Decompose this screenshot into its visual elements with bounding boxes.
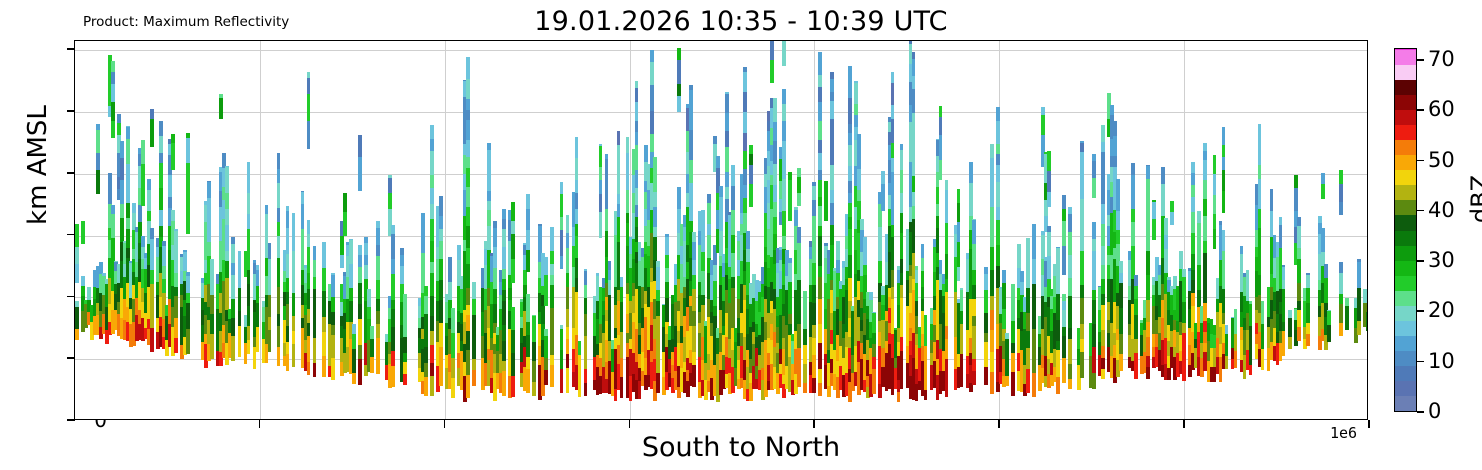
reflectivity-cell <box>1161 194 1165 206</box>
reflectivity-cell <box>349 239 353 264</box>
reflectivity-cell <box>238 326 242 348</box>
reflectivity-cell <box>617 241 621 268</box>
reflectivity-cell <box>439 241 443 259</box>
reflectivity-cell <box>1092 324 1096 347</box>
reflectivity-cell <box>584 270 588 285</box>
reflectivity-cell <box>653 192 657 207</box>
x-tick-mark <box>444 420 446 428</box>
reflectivity-cell <box>1119 354 1123 371</box>
reflectivity-cell <box>1222 288 1226 313</box>
reflectivity-cell <box>1131 209 1135 222</box>
reflectivity-cell <box>620 314 624 332</box>
reflectivity-cell <box>421 264 425 279</box>
reflectivity-cell <box>400 248 404 255</box>
reflectivity-cell <box>1131 175 1135 195</box>
reflectivity-cell <box>391 234 395 259</box>
reflectivity-cell <box>635 204 639 217</box>
reflectivity-cell <box>532 381 536 396</box>
reflectivity-cell <box>1261 349 1265 370</box>
reflectivity-cell <box>818 299 822 324</box>
reflectivity-cell <box>957 242 961 267</box>
reflectivity-cell <box>812 216 816 241</box>
reflectivity-cell <box>159 225 163 237</box>
reflectivity-cell <box>370 338 374 357</box>
reflectivity-cell <box>1197 222 1201 240</box>
reflectivity-cell <box>725 112 729 131</box>
reflectivity-cell <box>743 198 747 214</box>
reflectivity-cell <box>939 160 943 181</box>
reflectivity-cell <box>1119 308 1123 334</box>
reflectivity-cell <box>812 325 816 338</box>
reflectivity-cell <box>120 141 124 158</box>
reflectivity-cell <box>472 369 476 385</box>
reflectivity-cell <box>502 340 506 361</box>
reflectivity-cell <box>439 259 443 281</box>
colorbar-band <box>1395 140 1416 156</box>
reflectivity-cell <box>1240 246 1244 254</box>
reflectivity-cell <box>1222 276 1226 289</box>
reflectivity-cell <box>936 204 940 216</box>
reflectivity-cell <box>1258 228 1262 249</box>
reflectivity-cell <box>120 158 124 180</box>
reflectivity-cell <box>797 280 801 302</box>
reflectivity-cell <box>75 306 79 329</box>
reflectivity-cell <box>912 175 916 192</box>
reflectivity-cell <box>1080 198 1084 214</box>
reflectivity-cell <box>1113 156 1117 167</box>
reflectivity-cell <box>945 373 949 397</box>
reflectivity-cell <box>1222 251 1226 277</box>
reflectivity-cell <box>818 343 822 369</box>
reflectivity-cell <box>210 314 214 335</box>
reflectivity-cell <box>863 237 867 246</box>
reflectivity-cell <box>584 298 588 314</box>
reflectivity-cell <box>650 97 654 111</box>
reflectivity-cell <box>900 192 904 212</box>
reflectivity-cell <box>957 221 961 242</box>
reflectivity-cell <box>292 343 296 367</box>
reflectivity-cell <box>749 145 753 153</box>
reflectivity-cell <box>560 256 564 269</box>
reflectivity-cell <box>1026 268 1030 288</box>
reflectivity-cell <box>891 72 895 83</box>
reflectivity-cell <box>111 61 115 72</box>
reflectivity-cell <box>493 268 497 289</box>
x-axis-label: South to North <box>0 432 1482 463</box>
reflectivity-cell <box>430 125 434 140</box>
reflectivity-cell <box>186 163 190 187</box>
reflectivity-cell <box>1197 211 1201 223</box>
reflectivity-cell <box>1306 288 1310 303</box>
reflectivity-cell <box>812 262 816 285</box>
reflectivity-cell <box>219 94 223 98</box>
reflectivity-cell <box>1026 348 1030 370</box>
reflectivity-cell <box>1222 127 1226 145</box>
reflectivity-cell <box>550 354 554 365</box>
reflectivity-cell <box>277 270 281 288</box>
reflectivity-cell <box>159 188 163 210</box>
reflectivity-cell <box>1026 288 1030 314</box>
reflectivity-cell <box>1092 372 1096 389</box>
reflectivity-cell <box>1080 142 1084 152</box>
reflectivity-cell <box>872 312 876 313</box>
reflectivity-cell <box>1324 264 1328 278</box>
reflectivity-cell <box>174 286 178 296</box>
reflectivity-cell <box>656 301 660 316</box>
reflectivity-cell <box>502 247 506 269</box>
reflectivity-cell <box>701 251 705 271</box>
reflectivity-cell <box>689 160 693 184</box>
reflectivity-cell <box>400 255 404 267</box>
reflectivity-cell <box>1203 143 1207 151</box>
reflectivity-cell <box>1213 214 1217 229</box>
reflectivity-cell <box>1279 247 1283 265</box>
reflectivity-cell <box>617 145 621 170</box>
reflectivity-cell <box>376 360 380 374</box>
colorbar-band <box>1395 200 1416 216</box>
reflectivity-cell <box>487 200 491 210</box>
reflectivity-cell <box>891 237 895 259</box>
reflectivity-cell <box>921 287 925 299</box>
reflectivity-cell <box>1101 329 1105 346</box>
reflectivity-cell <box>247 213 251 228</box>
reflectivity-cell <box>1288 310 1292 318</box>
reflectivity-cell <box>487 149 491 176</box>
reflectivity-cell <box>897 391 901 402</box>
reflectivity-cell <box>340 235 344 254</box>
reflectivity-cell <box>313 289 317 307</box>
reflectivity-cell <box>430 376 434 396</box>
reflectivity-cell <box>830 118 834 141</box>
reflectivity-cell <box>313 259 317 277</box>
reflectivity-cell <box>117 114 121 123</box>
reflectivity-cell <box>1339 183 1343 202</box>
reflectivity-cell <box>1134 275 1138 286</box>
reflectivity-cell <box>126 163 130 188</box>
reflectivity-cell <box>773 121 777 141</box>
reflectivity-cell <box>1047 151 1051 171</box>
reflectivity-cell <box>677 48 681 61</box>
reflectivity-cell <box>689 183 693 194</box>
reflectivity-cell <box>364 264 368 278</box>
reflectivity-cell <box>891 224 895 237</box>
x-tick-mark <box>813 420 815 428</box>
reflectivity-cell <box>773 185 777 203</box>
reflectivity-cell <box>367 289 371 307</box>
reflectivity-cell <box>803 329 807 346</box>
reflectivity-cell <box>1164 218 1168 235</box>
reflectivity-cell <box>891 118 895 143</box>
reflectivity-cell <box>526 209 530 230</box>
reflectivity-cell <box>307 234 311 247</box>
reflectivity-cell <box>430 175 434 188</box>
reflectivity-cell <box>1068 231 1072 255</box>
reflectivity-cell <box>635 88 639 103</box>
reflectivity-cell <box>247 340 251 354</box>
reflectivity-cell <box>1101 305 1105 330</box>
reflectivity-cell <box>358 319 362 346</box>
reflectivity-cell <box>984 289 988 313</box>
reflectivity-cell <box>1324 278 1328 304</box>
reflectivity-cell <box>1146 321 1150 337</box>
reflectivity-cell <box>1327 311 1331 325</box>
reflectivity-cell <box>1258 209 1262 229</box>
reflectivity-cell <box>638 242 642 246</box>
reflectivity-cell <box>352 324 356 334</box>
reflectivity-cell <box>731 185 735 210</box>
colorbar-tick-label: 50 <box>1428 148 1455 172</box>
reflectivity-cell <box>782 140 786 163</box>
reflectivity-cell <box>996 144 1000 155</box>
reflectivity-cell <box>650 62 654 86</box>
reflectivity-cell <box>803 291 807 294</box>
reflectivity-cell <box>1080 284 1084 297</box>
reflectivity-cell <box>560 328 564 350</box>
reflectivity-cell <box>860 219 864 229</box>
reflectivity-cell <box>689 221 693 232</box>
reflectivity-cell <box>945 292 949 306</box>
reflectivity-cell <box>1080 141 1084 142</box>
reflectivity-cell <box>307 94 311 121</box>
reflectivity-cell <box>1080 173 1084 199</box>
reflectivity-cell <box>891 209 895 225</box>
reflectivity-cell <box>81 276 85 286</box>
reflectivity-cell <box>162 266 166 280</box>
reflectivity-cell <box>277 325 281 346</box>
reflectivity-cell <box>502 301 506 325</box>
reflectivity-cell <box>891 269 895 287</box>
reflectivity-cell <box>225 166 229 192</box>
reflectivity-cell <box>1203 253 1207 278</box>
reflectivity-cell <box>231 263 235 275</box>
reflectivity-cell <box>1056 267 1060 294</box>
reflectivity-cell <box>1288 318 1292 337</box>
reflectivity-cell <box>1191 211 1195 232</box>
reflectivity-cell <box>331 275 335 297</box>
reflectivity-cell <box>653 237 657 260</box>
reflectivity-cell <box>247 192 251 214</box>
reflectivity-cell <box>990 247 994 270</box>
reflectivity-cell <box>487 226 491 250</box>
reflectivity-cell <box>719 212 723 232</box>
reflectivity-cell <box>1056 319 1060 341</box>
reflectivity-cell <box>493 221 497 228</box>
reflectivity-cell <box>969 201 973 216</box>
colorbar-band <box>1395 215 1416 231</box>
reflectivity-cell <box>526 194 530 209</box>
reflectivity-cell <box>322 258 326 268</box>
reflectivity-cell <box>1282 321 1286 331</box>
reflectivity-cell <box>1203 215 1207 240</box>
reflectivity-cell <box>1011 372 1015 396</box>
reflectivity-cell <box>268 243 272 259</box>
reflectivity-cell <box>900 284 904 298</box>
reflectivity-cell <box>731 252 735 277</box>
reflectivity-cell <box>912 237 916 254</box>
reflectivity-cell <box>231 299 235 318</box>
reflectivity-cell <box>87 287 91 299</box>
reflectivity-cell <box>322 331 326 355</box>
reflectivity-cell <box>439 347 443 365</box>
reflectivity-cell <box>1225 325 1229 333</box>
reflectivity-cell <box>1261 301 1265 324</box>
reflectivity-cell <box>677 96 681 112</box>
reflectivity-cell <box>511 352 515 375</box>
reflectivity-cell <box>692 325 696 351</box>
reflectivity-cell <box>430 363 434 376</box>
reflectivity-cell <box>231 244 235 263</box>
reflectivity-cell <box>713 305 717 316</box>
reflectivity-cell <box>1068 312 1072 328</box>
reflectivity-cell <box>1032 352 1036 373</box>
reflectivity-cell <box>502 290 506 302</box>
reflectivity-cell <box>891 157 895 172</box>
reflectivity-cell <box>343 211 347 235</box>
reflectivity-cell <box>1191 232 1195 254</box>
reflectivity-cell <box>403 336 407 352</box>
reflectivity-cell <box>797 324 801 348</box>
reflectivity-cell <box>752 274 756 277</box>
reflectivity-cell <box>1222 191 1226 213</box>
reflectivity-cell <box>493 228 497 247</box>
reflectivity-cell <box>430 218 434 240</box>
reflectivity-cell <box>677 84 681 96</box>
reflectivity-cell <box>225 225 229 251</box>
reflectivity-cell <box>1297 326 1301 341</box>
reflectivity-cell <box>81 286 85 296</box>
reflectivity-cell <box>550 365 554 387</box>
reflectivity-cell <box>168 196 172 207</box>
reflectivity-cell <box>644 151 648 163</box>
reflectivity-cell <box>147 189 151 211</box>
reflectivity-cell <box>301 192 305 205</box>
reflectivity-cell <box>1161 206 1165 216</box>
reflectivity-cell <box>1101 293 1105 305</box>
reflectivity-cell <box>782 89 786 104</box>
reflectivity-cell <box>231 318 235 336</box>
reflectivity-cell <box>253 260 257 264</box>
reflectivity-cell <box>782 211 786 237</box>
reflectivity-cell <box>1005 333 1009 339</box>
reflectivity-cell <box>1182 356 1186 381</box>
reflectivity-cell <box>1101 165 1105 183</box>
reflectivity-cell <box>1191 184 1195 197</box>
reflectivity-cell <box>1032 224 1036 243</box>
reflectivity-cell <box>1116 179 1120 190</box>
reflectivity-cell <box>818 196 822 206</box>
reflectivity-cell <box>797 347 801 372</box>
reflectivity-cell <box>1182 269 1186 277</box>
reflectivity-cell <box>1146 235 1150 251</box>
reflectivity-cell <box>575 278 579 292</box>
reflectivity-cell <box>719 231 723 257</box>
reflectivity-cell <box>1357 259 1361 262</box>
reflectivity-cell <box>526 299 530 321</box>
reflectivity-cell <box>268 294 272 317</box>
reflectivity-cell <box>1182 322 1186 333</box>
reflectivity-cell <box>957 202 961 222</box>
reflectivity-cell <box>812 303 816 326</box>
reflectivity-cell <box>692 310 696 325</box>
reflectivity-cell <box>256 327 260 339</box>
reflectivity-cell <box>731 234 735 253</box>
reflectivity-cell <box>1321 173 1325 184</box>
reflectivity-cell <box>75 246 79 264</box>
reflectivity-cell <box>990 296 994 311</box>
reflectivity-cell <box>138 204 142 221</box>
reflectivity-cell <box>439 228 443 241</box>
reflectivity-cell <box>945 359 949 374</box>
reflectivity-cell <box>626 189 630 213</box>
reflectivity-cell <box>1306 275 1310 289</box>
reflectivity-cell <box>238 253 242 274</box>
reflectivity-cell <box>891 143 895 158</box>
reflectivity-cell <box>912 219 916 238</box>
reflectivity-cell <box>292 267 296 294</box>
reflectivity-cell <box>626 213 630 223</box>
reflectivity-cell <box>990 157 994 181</box>
reflectivity-cell <box>1357 311 1361 321</box>
reflectivity-cell <box>818 323 822 343</box>
reflectivity-cell <box>656 331 660 352</box>
reflectivity-cell <box>150 295 154 307</box>
reflectivity-cell <box>493 288 497 303</box>
reflectivity-cell <box>635 102 639 121</box>
reflectivity-cell <box>996 165 1000 183</box>
reflectivity-cell <box>900 350 904 366</box>
reflectivity-cell <box>391 259 395 275</box>
reflectivity-cell <box>665 237 669 255</box>
reflectivity-cell <box>277 236 281 258</box>
reflectivity-cell <box>388 192 392 208</box>
reflectivity-cell <box>307 120 311 149</box>
reflectivity-cell <box>891 105 895 119</box>
reflectivity-cell <box>225 250 229 261</box>
reflectivity-cell <box>277 182 281 207</box>
reflectivity-cell <box>945 190 949 208</box>
reflectivity-cell <box>349 239 353 240</box>
reflectivity-cell <box>689 129 693 144</box>
reflectivity-cell <box>1282 265 1286 267</box>
reflectivity-cell <box>575 157 579 180</box>
reflectivity-cell <box>225 261 229 278</box>
reflectivity-cell <box>307 289 311 309</box>
reflectivity-cell <box>439 215 443 228</box>
reflectivity-cell <box>424 347 428 363</box>
reflectivity-cell <box>1258 178 1262 195</box>
colorbar-tick-mark <box>1417 310 1424 312</box>
reflectivity-cell <box>650 110 654 134</box>
reflectivity-cell <box>1032 283 1036 308</box>
reflectivity-cell <box>159 121 163 125</box>
reflectivity-cell <box>277 221 281 236</box>
reflectivity-cell <box>1213 173 1217 195</box>
reflectivity-cell <box>538 225 542 238</box>
reflectivity-cell <box>331 311 335 325</box>
reflectivity-cell <box>824 196 828 220</box>
reflectivity-cell <box>1167 277 1171 280</box>
reflectivity-cell <box>1113 136 1117 157</box>
reflectivity-cell <box>900 169 904 193</box>
reflectivity-cell <box>174 229 178 231</box>
reflectivity-cell <box>1011 284 1015 298</box>
reflectivity-cell <box>1005 349 1009 364</box>
reflectivity-cell <box>256 270 260 286</box>
reflectivity-cell <box>225 278 229 301</box>
reflectivity-cell <box>358 135 362 157</box>
reflectivity-cell <box>102 273 106 275</box>
reflectivity-cell <box>448 281 452 300</box>
